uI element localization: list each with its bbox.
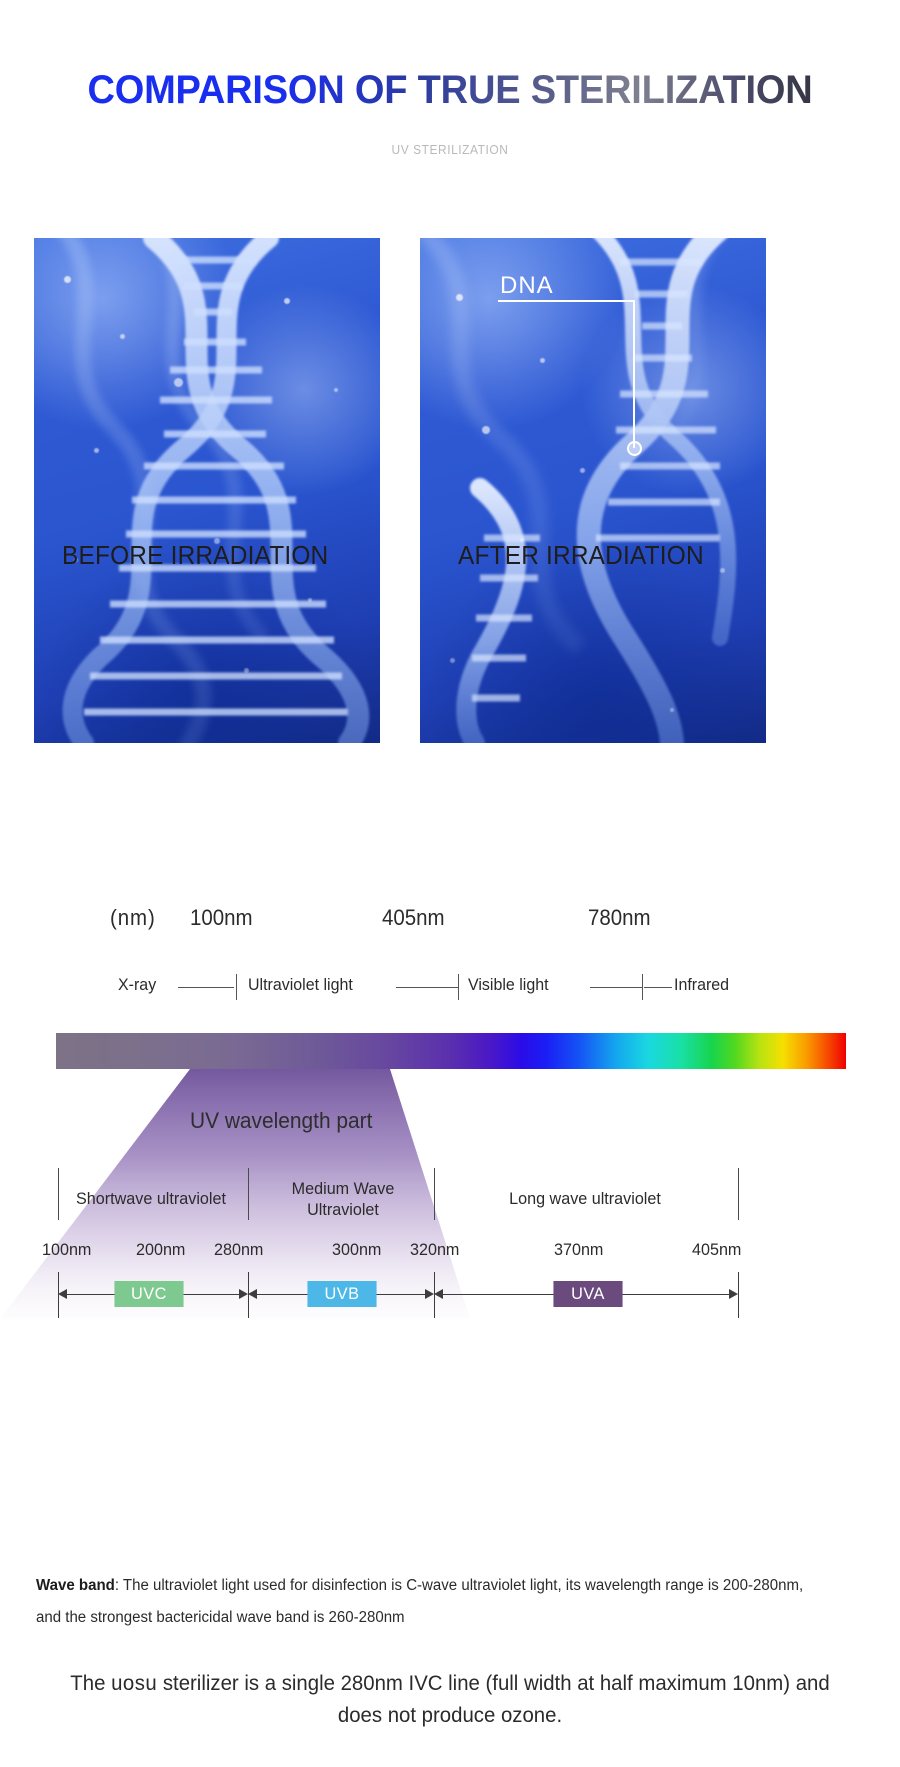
wavelength-tick-100nm: 100nm	[190, 905, 253, 931]
page-title: COMPARISON OF TRUE STERILIZATION	[23, 68, 878, 112]
uva-arrow-left	[434, 1289, 443, 1299]
closing-prefix: The	[70, 1672, 111, 1695]
badge-uvb: UVB	[307, 1281, 376, 1307]
band-divider-ir	[642, 974, 643, 1000]
dna-helix-before	[34, 238, 380, 743]
wavelength-tick-780nm: 780nm	[588, 905, 651, 931]
uv-category-mediumwave: Medium Wave Ultraviolet	[258, 1178, 427, 1221]
uv-category-longwave: Long wave ultraviolet	[447, 1188, 723, 1209]
band-label-infrared: Infrared	[674, 975, 729, 995]
closing-statement: The uosu sterilizer is a single 280nm IV…	[62, 1668, 838, 1731]
uv-tick-200nm: 200nm	[136, 1240, 185, 1260]
uv-tick-300nm: 300nm	[332, 1240, 381, 1260]
uv-wavelength-part-label: UV wavelength part	[190, 1108, 372, 1134]
visible-spectrum-bar	[56, 1033, 846, 1069]
waveband-note-text: : The ultraviolet light used for disinfe…	[36, 1577, 803, 1626]
uv-category-divider-2	[434, 1168, 435, 1220]
uv-tick-405nm: 405nm	[692, 1240, 741, 1260]
wavelength-tick-row: (nm) 100nm 405nm 780nm	[0, 905, 900, 945]
band-divider-780	[458, 974, 459, 1000]
uv-tick-100nm: 100nm	[42, 1240, 91, 1260]
page-subtitle: UV STERILIZATION	[36, 142, 864, 157]
uva-arrow-right	[729, 1289, 738, 1299]
band-label-visible: Visible light	[468, 975, 549, 995]
uv-tick-370nm: 370nm	[554, 1240, 603, 1260]
band-connector-1	[178, 987, 234, 988]
after-irradiation-image: DNA	[420, 238, 766, 743]
closing-rest: sterilizer is a single 280nm IVC line (f…	[157, 1672, 829, 1727]
uv-category-shortwave: Shortwave ultraviolet	[61, 1188, 242, 1209]
band-divider-405	[236, 974, 237, 1000]
spectrum-band-labels: X-ray Ultraviolet light Visible light In…	[0, 975, 900, 1001]
band-label-ultraviolet: Ultraviolet light	[248, 975, 353, 995]
uvc-arrow-right	[239, 1289, 248, 1299]
dna-helix-after	[420, 238, 766, 743]
uvb-arrow-right	[425, 1289, 434, 1299]
uvc-arrow-left	[58, 1289, 67, 1299]
uv-range-arrow-row: UVC UVB UVA	[0, 1272, 900, 1330]
wavelength-unit-label: (nm)	[110, 905, 156, 931]
band-connector-4	[644, 987, 672, 988]
badge-uva: UVA	[553, 1281, 622, 1307]
uv-category-divider-right	[738, 1168, 739, 1220]
band-connector-3	[590, 987, 642, 988]
uv-category-mediumwave-line1: Medium Wave	[292, 1179, 395, 1198]
after-irradiation-label: AFTER IRRADIATION	[458, 540, 704, 571]
badge-uvc: UVC	[114, 1281, 183, 1307]
uv-category-divider-1	[248, 1168, 249, 1220]
before-irradiation-image	[34, 238, 380, 743]
wavelength-tick-405nm: 405nm	[382, 905, 445, 931]
comparison-panels: DNA	[34, 238, 766, 743]
brand-name: uosu	[111, 1672, 157, 1695]
band-connector-2	[396, 987, 458, 988]
uv-tick-280nm: 280nm	[214, 1240, 263, 1260]
before-irradiation-label: BEFORE IRRADIATION	[62, 540, 328, 571]
uvb-arrow-left	[248, 1289, 257, 1299]
uv-category-mediumwave-line2: Ultraviolet	[307, 1200, 379, 1219]
page-header: COMPARISON OF TRUE STERILIZATION UV STER…	[0, 0, 900, 157]
uv-category-row: Shortwave ultraviolet Medium Wave Ultrav…	[0, 1168, 900, 1230]
waveband-note: Wave band: The ultraviolet light used fo…	[36, 1570, 831, 1634]
uv-range-tick-405nm	[738, 1272, 739, 1318]
uv-tick-320nm: 320nm	[410, 1240, 459, 1260]
uv-category-divider-left	[58, 1168, 59, 1220]
band-label-xray: X-ray	[118, 975, 156, 995]
uv-nm-tick-labels: 100nm 200nm 280nm 300nm 320nm 370nm 405n…	[0, 1240, 900, 1268]
waveband-note-label: Wave band	[36, 1577, 115, 1594]
